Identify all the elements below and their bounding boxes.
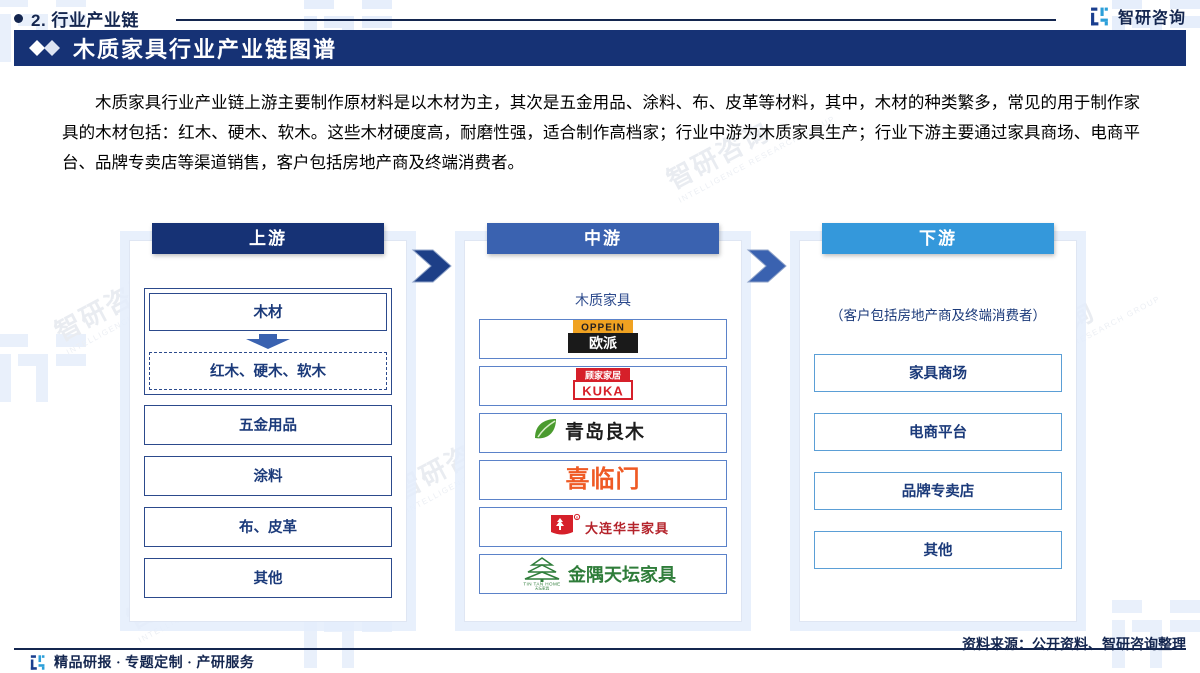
downstream-item[interactable]: 品牌专卖店 [814,472,1062,510]
bullet-dot-icon [14,14,23,23]
midstream-header: 中游 [487,223,719,254]
zhiyan-logo-icon [30,654,47,671]
page-title-bar: 木质家具行业产业链图谱 [14,30,1186,66]
downstream-column: 下游 （客户包括房地产商及终端消费者） 家具商场 电商平台 品牌专卖店 其他 [799,240,1077,622]
svg-text:喜临门: 喜临门 [566,465,641,493]
brand-cell[interactable]: OPPEIN 欧派 [479,319,727,359]
qingdao-liangmu-logo-icon: 青岛良木 [529,416,677,451]
oppein-logo-icon: OPPEIN 欧派 [560,319,646,359]
zhiyan-watermark-icon [0,330,90,406]
upstream-detail-cell[interactable]: 红木、硬木、软木 [149,352,387,390]
brand-cell[interactable]: 青岛良木 [479,413,727,453]
double-diamond-icon [28,39,62,57]
jinyu-tiantan-logo-icon: TIN TAN HOME 天坛家具 金隅天坛家具 [518,554,688,594]
section-kicker-label: 2. 行业产业链 [31,6,139,31]
footer: 精品研报 · 专题定制 · 产研服务 [30,652,254,672]
midstream-caption: 木质家具 [479,290,727,310]
upstream-header: 上游 [152,223,384,254]
upstream-title: 上游 [249,229,287,248]
upstream-item[interactable]: 五金用品 [144,405,392,445]
intro-text: 木质家具行业产业链上游主要制作原材料是以木材为主，其次是五金用品、涂料、布、皮革… [62,88,1140,178]
chevron-right-icon [411,248,453,284]
brand-cell[interactable]: TIN TAN HOME 天坛家具 金隅天坛家具 [479,554,727,594]
downstream-header: 下游 [822,223,1054,254]
brand-cell[interactable]: 喜临门 [479,460,727,500]
xilinmen-logo-icon: 喜临门 [550,463,656,498]
brand-logo: 智研咨询 [1090,4,1186,28]
intro-paragraph: 木质家具行业产业链上游主要制作原材料是以木材为主，其次是五金用品、涂料、布、皮革… [62,88,1140,178]
zhiyan-logo-icon [1090,6,1111,27]
chevron-right-icon [746,248,788,284]
svg-text:天坛家具: 天坛家具 [535,585,550,589]
kuka-logo-icon: 顾家家居 KUKA [568,366,638,406]
svg-text:青岛良木: 青岛良木 [565,420,645,443]
svg-text:顾家家居: 顾家家居 [585,369,621,380]
svg-text:KUKA: KUKA [582,383,624,398]
svg-text:欧派: 欧派 [589,335,618,352]
page-title: 木质家具行业产业链图谱 [73,32,337,64]
svg-text:金隅天坛家具: 金隅天坛家具 [567,564,676,585]
brand-cell[interactable]: R 大连华丰家具 [479,507,727,547]
section-kicker: 2. 行业产业链 [14,6,139,31]
upstream-primary-cell[interactable]: 木材 [149,293,387,331]
source-note: 资料来源：公开资料、智研咨询整理 [962,634,1186,654]
upstream-body: 木材 红木、硬木、软木 五金用品 涂料 布、皮革 其他 [130,272,406,621]
midstream-body: 木质家具 OPPEIN 欧派 [465,272,741,621]
svg-text:OPPEIN: OPPEIN [581,322,625,333]
downstream-item[interactable]: 电商平台 [814,413,1062,451]
downstream-item[interactable]: 其他 [814,531,1062,569]
kicker-divider [176,19,1056,21]
arrow-down-icon [149,334,387,349]
brand-cell[interactable]: 顾家家居 KUKA [479,366,727,406]
svg-text:大连华丰家具: 大连华丰家具 [585,521,669,536]
value-chain-diagram: 上游 木材 红木、硬木、软木 五金用品 涂料 布、皮革 其他 [120,222,1085,622]
brand-name-label: 智研咨询 [1118,4,1186,28]
dalian-huafeng-logo-icon: R 大连华丰家具 [533,511,673,544]
upstream-item[interactable]: 布、皮革 [144,507,392,547]
slide-page: 智研咨询 INTELLIGENCE RESEARCH GROUP 智研咨询 IN… [0,0,1200,673]
footer-tagline: 精品研报 · 专题定制 · 产研服务 [54,652,254,672]
downstream-note: （客户包括房地产商及终端消费者） [814,304,1062,324]
upstream-item[interactable]: 其他 [144,558,392,598]
downstream-item[interactable]: 家具商场 [814,354,1062,392]
midstream-title: 中游 [584,229,622,248]
upstream-item[interactable]: 涂料 [144,456,392,496]
downstream-title: 下游 [919,229,957,248]
footer-divider [14,648,1186,650]
midstream-column: 中游 木质家具 OPPEIN 欧派 [464,240,742,622]
downstream-body: （客户包括房地产商及终端消费者） 家具商场 电商平台 品牌专卖店 其他 [800,272,1076,621]
upstream-material-group: 木材 红木、硬木、软木 [144,288,392,395]
upstream-column: 上游 木材 红木、硬木、软木 五金用品 涂料 布、皮革 其他 [129,240,407,622]
